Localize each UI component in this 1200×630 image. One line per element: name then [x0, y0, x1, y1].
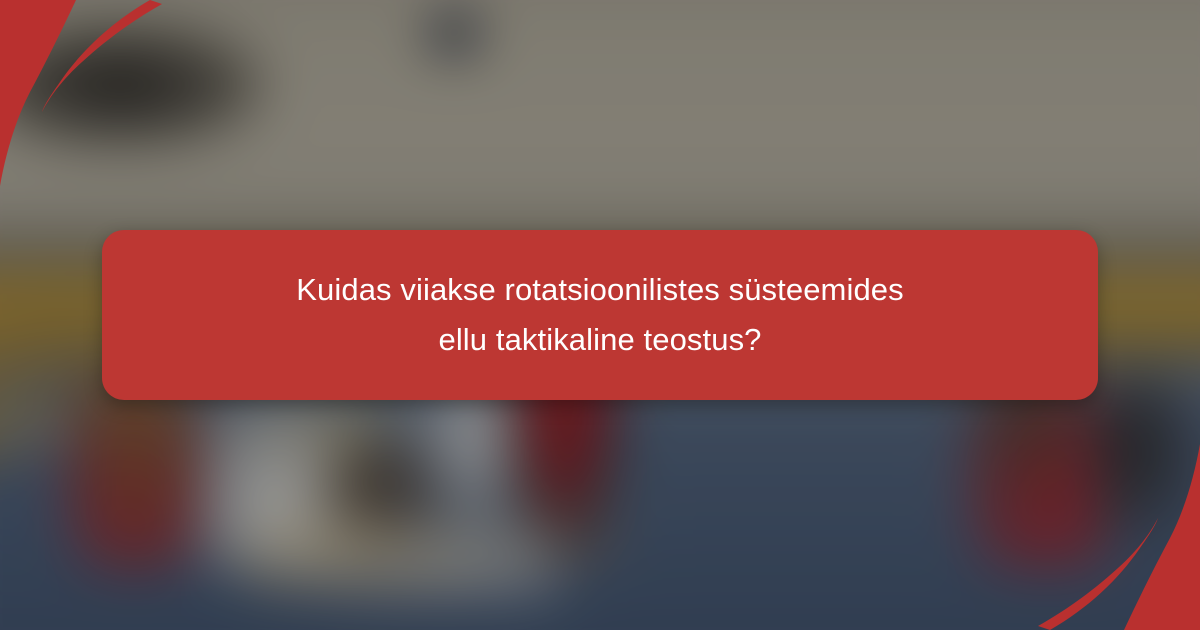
swoosh-wedge-icon — [0, 0, 76, 186]
swoosh-wedge-icon — [1124, 444, 1200, 630]
swoosh-bottom-right — [940, 400, 1200, 630]
social-share-card: Kuidas viiakse rotatsioonilistes süsteem… — [0, 0, 1200, 630]
headline-card: Kuidas viiakse rotatsioonilistes süsteem… — [102, 230, 1098, 400]
swoosh-top-left — [0, 0, 260, 230]
page-title: Kuidas viiakse rotatsioonilistes süsteem… — [296, 265, 903, 365]
